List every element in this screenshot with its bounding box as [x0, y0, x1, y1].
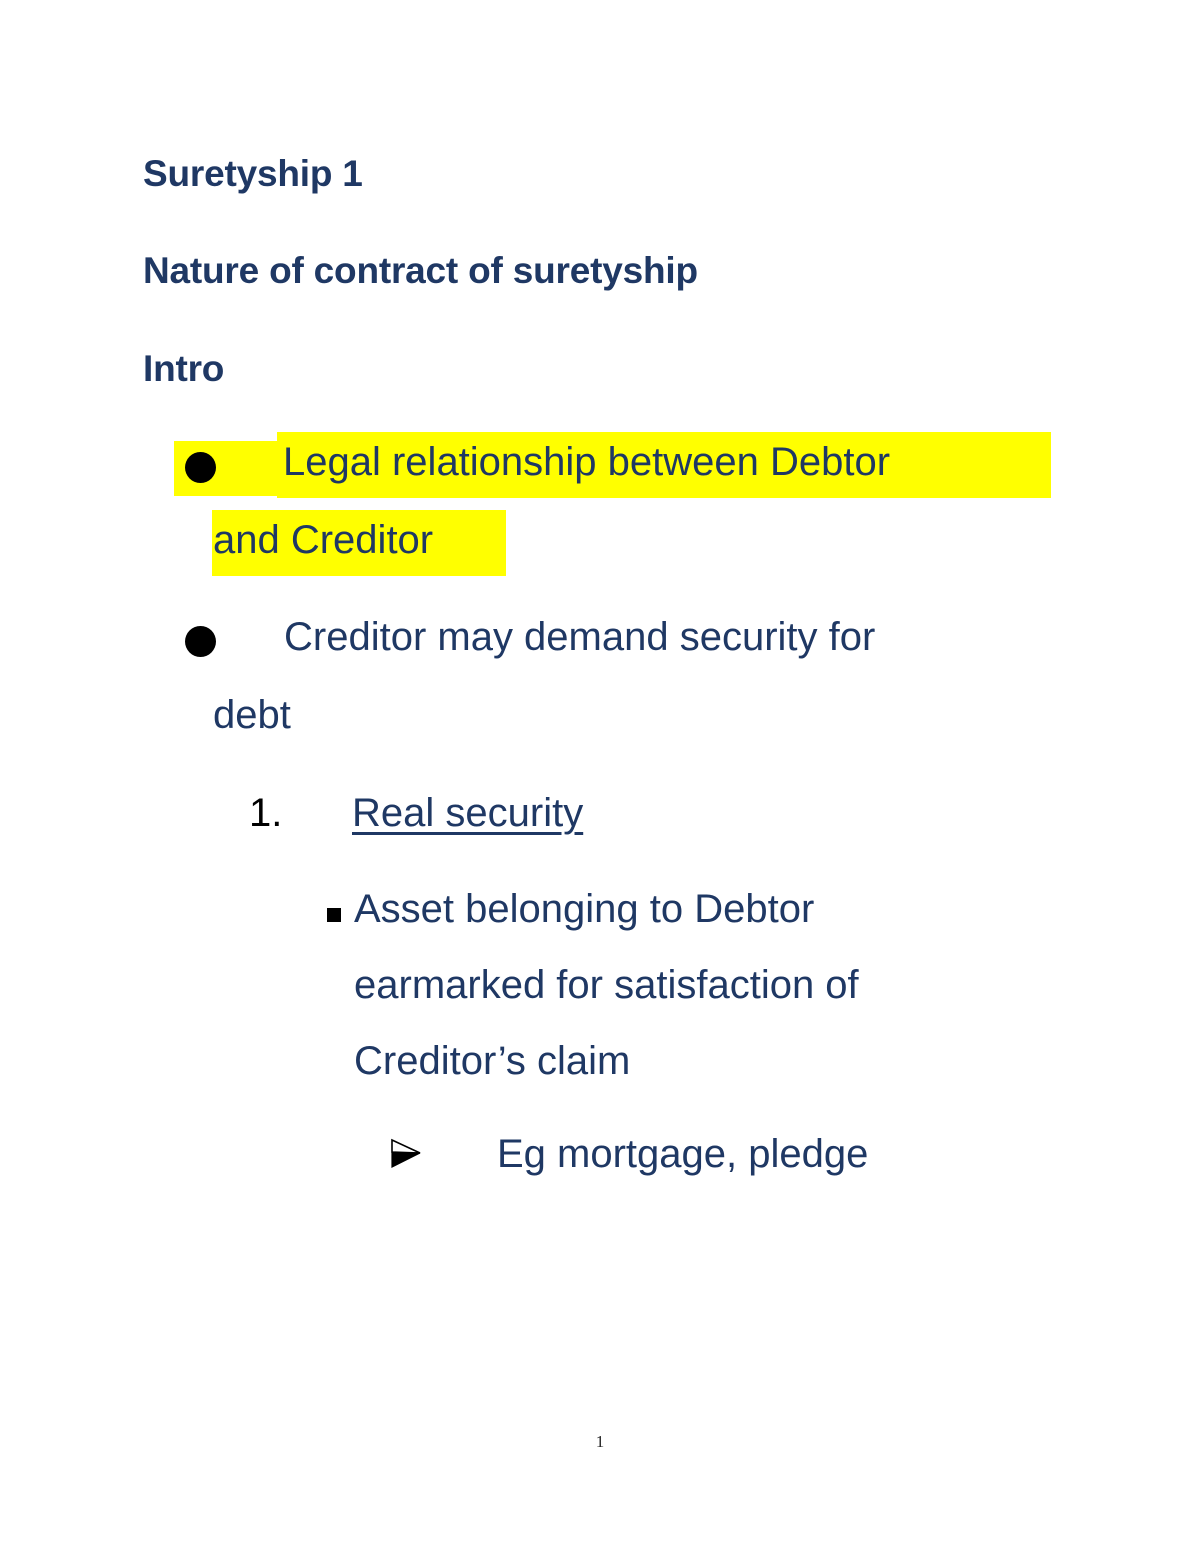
bullet-1-line-1: Legal relationship between Debtor	[283, 442, 890, 482]
bullet-2-line-2: debt	[213, 695, 291, 735]
sub-bullet-1-line-1: Asset belonging to Debtor	[354, 889, 814, 929]
bullet-1-line-2: and Creditor	[213, 520, 433, 560]
arrowhead-bullet-icon	[391, 1138, 421, 1170]
document-page: Suretyship 1 Nature of contract of suret…	[0, 0, 1200, 1553]
round-bullet-icon	[185, 626, 216, 657]
sub-bullet-1-line-3: Creditor’s claim	[354, 1041, 630, 1081]
sub-sub-bullet-1-text: Eg mortgage, pledge	[497, 1134, 868, 1174]
page-number: 1	[0, 1432, 1200, 1452]
section-heading-intro: Intro	[143, 350, 224, 389]
subtitle-heading: Nature of contract of suretyship	[143, 252, 698, 291]
page-title: Suretyship 1	[143, 155, 363, 194]
square-bullet-icon	[327, 908, 341, 922]
bullet-2-line-1: Creditor may demand security for	[284, 617, 875, 657]
sub-bullet-1-line-2: earmarked for satisfaction of	[354, 965, 859, 1005]
list-number-marker: 1.	[249, 793, 282, 833]
numbered-1-text: Real security	[352, 793, 583, 833]
round-bullet-icon	[185, 452, 216, 483]
